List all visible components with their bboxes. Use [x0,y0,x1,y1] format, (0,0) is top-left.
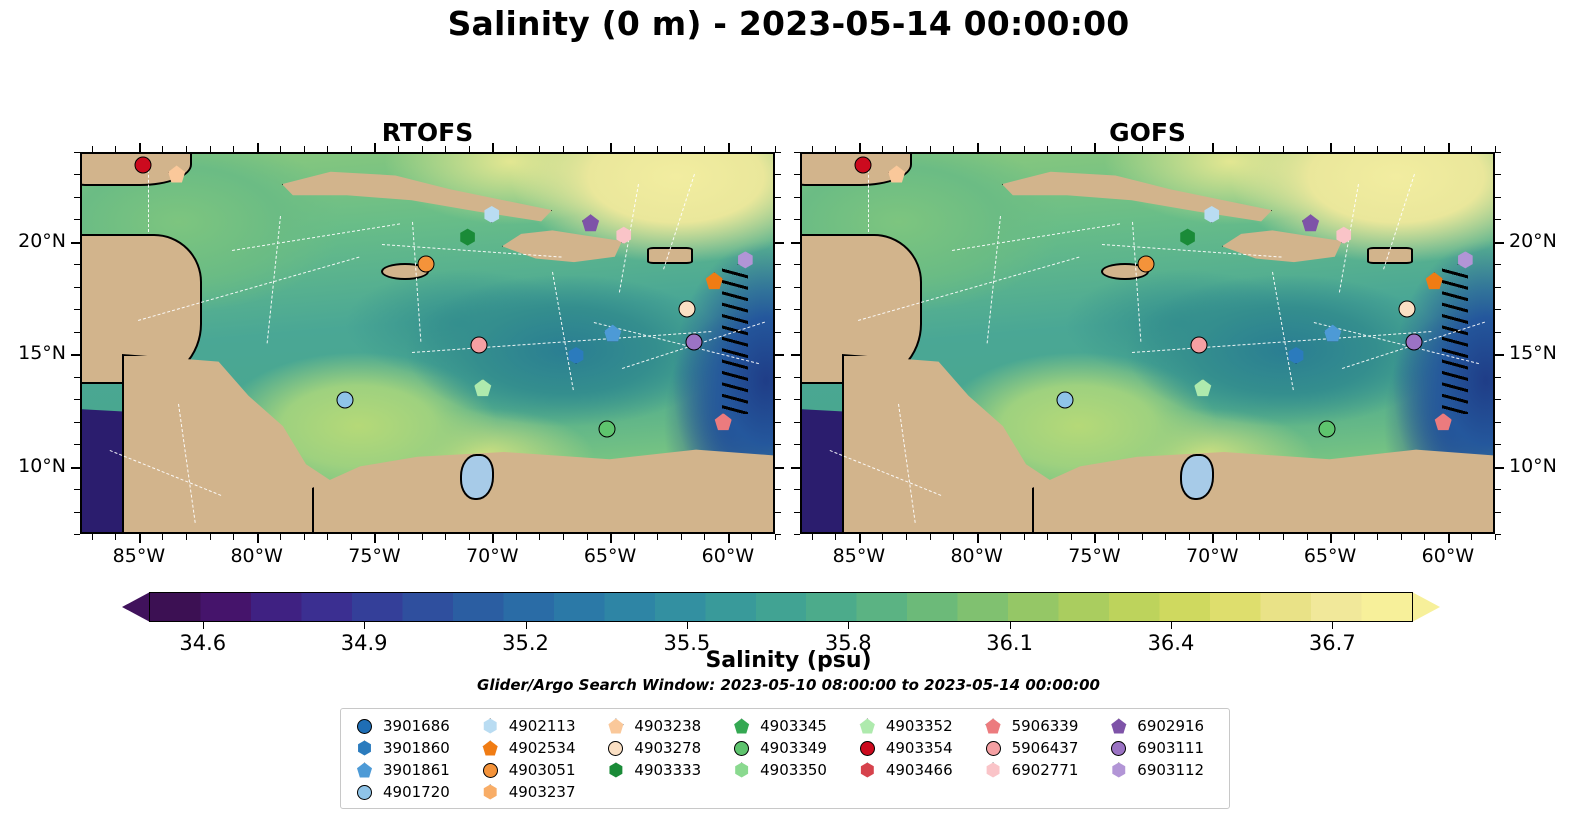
panel-title-rtofs: RTOFS [80,118,775,147]
x-axis-tick [280,534,281,540]
x-axis-tick [1142,146,1143,152]
legend-marker-icon [986,741,1001,756]
x-axis-tick [930,534,931,540]
colorbar-extend-high-arrow [1412,592,1440,622]
y-axis-tick [794,174,800,175]
x-axis-tick [1094,534,1096,543]
colorbar-tick [1171,622,1172,629]
x-axis-tick [859,534,861,543]
legend-item[interactable]: 6902771 [974,760,1100,780]
x-axis-tick [1401,146,1402,152]
map-marker[interactable] [168,166,185,183]
legend-item-label: 4903466 [886,761,953,779]
x-axis-tick [422,534,423,540]
legend-item[interactable]: 4903345 [722,716,848,736]
colorbar-tick [687,622,688,629]
y-axis-tick [74,309,80,310]
legend-item[interactable]: 4903354 [848,738,974,758]
map-marker[interactable] [1426,272,1443,289]
y-axis-tick [791,467,800,469]
x-axis-tick [977,534,979,543]
map-marker[interactable] [471,336,488,353]
y-axis-tick [74,377,80,378]
x-axis-tick [186,146,187,152]
y-axis-label: 10°N [0,455,66,477]
x-axis-tick [1071,534,1072,540]
map-marker[interactable] [1319,421,1336,438]
legend-item-label: 5906437 [1012,739,1079,757]
y-axis-tick [74,399,80,400]
x-axis-tick [906,534,907,540]
y-axis-tick [74,534,80,535]
x-axis-label: 85°W [814,545,904,567]
legend-item[interactable]: 4903237 [471,782,597,802]
map-marker[interactable] [1194,379,1211,396]
y-axis-tick [794,287,800,288]
x-axis-tick [1424,146,1425,152]
x-axis-tick [327,146,328,152]
x-axis-tick [351,146,352,152]
y-axis-tick [1495,512,1501,513]
x-axis-tick [1142,534,1143,540]
map-panel-gofs[interactable] [800,152,1495,534]
colorbar-tick [1332,622,1333,629]
x-axis-tick [280,146,281,152]
y-axis-tick [775,512,781,513]
map-marker[interactable] [1288,347,1305,364]
x-axis-tick [1307,534,1308,540]
y-axis-tick [791,354,800,356]
y-axis-tick [1495,219,1501,220]
legend-marker-icon [986,719,1001,734]
legend-item-label: 4903278 [634,739,701,757]
x-axis-tick [1212,143,1214,152]
y-axis-tick [74,197,80,198]
x-axis-label: 80°W [212,545,302,567]
x-axis-tick [1118,534,1119,540]
map-marker[interactable] [1056,391,1073,408]
x-axis-tick [469,534,470,540]
y-axis-tick [1495,264,1501,265]
legend-item[interactable]: 5906437 [974,738,1100,758]
map-marker[interactable] [615,227,632,244]
colorbar-extend-low-arrow [122,592,150,622]
y-axis-tick [1495,354,1504,356]
x-axis-label: 60°W [1403,545,1493,567]
y-axis-tick [775,219,781,220]
y-axis-label: 20°N [1509,230,1557,252]
x-axis-tick [1212,534,1214,543]
x-axis-tick [422,146,423,152]
map-marker[interactable] [1457,251,1474,268]
colorbar[interactable]: 34.634.935.235.535.836.136.436.7 [122,592,1440,622]
x-axis-tick [492,143,494,152]
map-marker[interactable] [1191,336,1208,353]
x-axis-tick [233,146,234,152]
colorbar-tick [526,622,527,629]
y-axis-tick [794,444,800,445]
x-axis-tick [812,534,813,540]
x-axis-tick [882,146,883,152]
x-axis-tick [1471,146,1472,152]
x-axis-tick [906,146,907,152]
x-axis-tick [374,143,376,152]
x-axis-tick [469,146,470,152]
y-axis-tick [1495,197,1501,198]
map-marker[interactable] [1203,206,1220,223]
y-axis-tick [775,444,781,445]
x-axis-label: 60°W [683,545,773,567]
map-marker[interactable] [686,334,703,351]
map-marker[interactable] [1179,229,1196,246]
x-axis-tick [634,534,635,540]
x-axis-tick [1189,146,1190,152]
x-axis-tick [882,534,883,540]
legend-item-label: 4903349 [760,739,827,757]
panel-title-gofs: GOFS [800,118,1495,147]
legend-item-label: 4902113 [509,717,576,735]
legend-marker-icon [608,763,623,778]
x-axis-label: 70°W [447,545,537,567]
y-axis-tick [794,219,800,220]
legend-item-label: 3901861 [383,761,450,779]
y-axis-tick [775,309,781,310]
y-axis-tick [775,197,781,198]
x-axis-label: 65°W [1285,545,1375,567]
legend-item[interactable]: 4903350 [722,760,848,780]
x-axis-tick [1330,143,1332,152]
map-marker[interactable] [854,157,871,174]
x-axis-tick [587,146,588,152]
map-marker[interactable] [134,157,151,174]
legend-item-label: 6903111 [1137,739,1204,757]
legend-marker-icon [1111,719,1126,734]
y-axis-tick [74,174,80,175]
y-axis-tick [794,489,800,490]
x-axis-tick [257,534,259,543]
y-axis-tick [1495,309,1501,310]
x-axis-tick [1283,146,1284,152]
map-marker[interactable] [474,379,491,396]
legend-item-label: 4903350 [760,761,827,779]
y-axis-tick [775,467,784,469]
land-lesser-antilles [722,264,748,414]
legend-item-label: 3901686 [383,717,450,735]
map-marker[interactable] [1324,325,1341,342]
map-marker[interactable] [706,272,723,289]
colorbar-tick [848,622,849,629]
x-axis-label: 65°W [565,545,655,567]
x-axis-tick [704,534,705,540]
legend-item-label: 6902771 [1012,761,1079,779]
legend-item-label: 4903238 [634,717,701,735]
legend-marker-icon [357,741,372,756]
y-axis-tick [775,287,781,288]
x-axis-tick [186,534,187,540]
legend-marker-icon [1111,741,1126,756]
y-axis-tick [1495,467,1504,469]
x-axis-tick [751,146,752,152]
y-axis-tick [71,467,80,469]
legend-marker-icon [734,741,749,756]
x-axis-tick [1165,146,1166,152]
y-axis-tick [794,377,800,378]
y-axis-tick [775,354,784,356]
y-axis-tick [775,534,781,535]
y-axis-tick [71,354,80,356]
x-axis-tick [681,534,682,540]
legend-item[interactable]: 4903051 [471,760,597,780]
x-axis-tick [1165,534,1166,540]
x-axis-tick [657,534,658,540]
legend-item-label: 5906339 [1012,717,1079,735]
x-axis-tick [751,534,752,540]
legend-item[interactable]: 3901860 [345,738,471,758]
legend-item[interactable]: 4903278 [596,738,722,758]
x-axis-tick [115,146,116,152]
legend-item[interactable]: 6903111 [1099,738,1225,758]
x-axis-tick [610,534,612,543]
legend-marker-icon [357,763,372,778]
colorbar-tick [1010,622,1011,629]
x-axis-tick [681,146,682,152]
y-axis-tick [1495,332,1501,333]
legend-item[interactable]: 4903466 [848,760,974,780]
x-axis-tick [835,146,836,152]
x-axis-tick [1259,146,1260,152]
legend-item-label: 4902534 [509,739,576,757]
colorbar-gradient [149,592,1413,622]
y-axis-tick [1495,287,1501,288]
y-axis-tick [794,512,800,513]
y-axis-tick [775,242,784,244]
y-axis-tick [1495,399,1501,400]
y-axis-tick [1495,152,1501,153]
x-axis-tick [1259,534,1260,540]
x-axis-tick [516,146,517,152]
map-marker[interactable] [1406,334,1423,351]
x-axis-tick [210,146,211,152]
y-axis-tick [775,489,781,490]
x-axis-tick [304,146,305,152]
legend-item[interactable]: 3901861 [345,760,471,780]
map-marker[interactable] [1399,300,1416,317]
map-marker[interactable] [679,300,696,317]
map-marker[interactable] [599,421,616,438]
colorbar-tick [203,622,204,629]
x-axis-tick [1047,534,1048,540]
y-axis-tick [71,242,80,244]
y-axis-tick [74,219,80,220]
y-axis-tick [794,309,800,310]
x-axis-tick [445,146,446,152]
legend-item[interactable]: 4903352 [848,716,974,736]
legend-marker-icon [608,741,623,756]
x-axis-tick [327,534,328,540]
y-axis-tick [74,332,80,333]
x-axis-tick [139,143,141,152]
legend-marker-icon [357,719,372,734]
x-axis-tick [162,534,163,540]
map-marker[interactable] [582,214,599,231]
map-marker[interactable] [1138,255,1155,272]
search-window-text: Glider/Argo Search Window: 2023-05-10 08… [0,676,1577,694]
x-axis-tick [1236,534,1237,540]
y-axis-tick [775,377,781,378]
y-axis-tick [794,197,800,198]
x-axis-tick [445,534,446,540]
legend-item-label: 4903345 [760,717,827,735]
water-lake-maracaibo [460,454,494,500]
legend-item[interactable]: 4902113 [471,716,597,736]
legend-marker-icon [734,719,749,734]
legend-item[interactable]: 4901720 [345,782,471,802]
map-marker[interactable] [418,255,435,272]
x-axis-tick [1024,146,1025,152]
y-axis-label: 15°N [0,342,66,364]
legend-grid: 3901686390186039018614901720490211349025… [345,716,1225,802]
legend-item[interactable]: 4903349 [722,738,848,758]
y-axis-tick [775,174,781,175]
x-axis-label: 70°W [1167,545,1257,567]
legend-item[interactable]: 4902534 [471,738,597,758]
legend-item[interactable]: 4903333 [596,760,722,780]
x-axis-tick [139,534,141,543]
legend-item[interactable]: 3901686 [345,716,471,736]
x-axis-tick [1283,534,1284,540]
x-axis-tick [704,146,705,152]
legend-marker-icon [483,741,498,756]
legend-item[interactable]: 4903238 [596,716,722,736]
x-axis-label: 75°W [329,545,419,567]
y-axis-tick [775,422,781,423]
legend-marker-icon [483,763,498,778]
legend-item-label: 4903237 [509,783,576,801]
y-axis-tick [794,264,800,265]
x-axis-tick [835,534,836,540]
legend-item[interactable]: 6903112 [1099,760,1225,780]
x-axis-label: 85°W [94,545,184,567]
x-axis-tick [977,143,979,152]
y-axis-tick [74,152,80,153]
legend-item-label: 6903112 [1137,761,1204,779]
x-axis-tick [210,534,211,540]
y-axis-tick [775,332,781,333]
legend-marker-icon [860,763,875,778]
legend-item-label: 4903354 [886,739,953,757]
x-axis-tick [1448,534,1450,543]
x-axis-tick [1354,534,1355,540]
x-axis-label: 80°W [932,545,1022,567]
water-lake-maracaibo [1180,454,1214,500]
x-axis-tick [1330,534,1332,543]
map-marker[interactable] [715,413,732,430]
legend-item-label: 4901720 [383,783,450,801]
y-axis-tick [775,152,781,153]
colorbar-title: Salinity (psu) [0,648,1577,673]
x-axis-tick [587,534,588,540]
legend-marker-icon [1111,763,1126,778]
x-axis-tick [1448,143,1450,152]
y-axis-tick [1495,174,1501,175]
legend-item[interactable]: 5906339 [974,716,1100,736]
x-axis-tick [233,534,234,540]
x-axis-tick [728,143,730,152]
legend-marker-icon [986,763,1001,778]
map-marker[interactable] [1335,227,1352,244]
map-marker[interactable] [568,347,585,364]
map-panel-rtofs[interactable] [80,152,775,534]
legend-marker-icon [608,719,623,734]
y-axis-tick [791,242,800,244]
colorbar-tick [364,622,365,629]
legend-marker-icon [483,719,498,734]
map-marker[interactable] [483,206,500,223]
figure-title: Salinity (0 m) - 2023-05-14 00:00:00 [0,4,1577,43]
y-axis-label: 20°N [0,230,66,252]
x-axis-tick [634,146,635,152]
y-axis-tick [74,264,80,265]
x-axis-tick [374,534,376,543]
map-marker[interactable] [1435,413,1452,430]
x-axis-tick [92,534,93,540]
y-axis-tick [1495,242,1504,244]
map-marker[interactable] [1302,214,1319,231]
x-axis-tick [1071,146,1072,152]
x-axis-tick [953,534,954,540]
y-axis-tick [1495,534,1501,535]
x-axis-tick [1377,534,1378,540]
y-axis-tick [1495,377,1501,378]
legend-item-label: 6902916 [1137,717,1204,735]
y-axis-tick [74,287,80,288]
map-marker[interactable] [336,391,353,408]
x-axis-tick [1424,534,1425,540]
x-axis-tick [1047,146,1048,152]
legend-marker-icon [483,785,498,800]
x-axis-tick [1236,146,1237,152]
y-axis-tick [74,444,80,445]
x-axis-tick [1000,534,1001,540]
legend-item[interactable]: 6902916 [1099,716,1225,736]
y-axis-tick [74,512,80,513]
map-marker[interactable] [888,166,905,183]
x-axis-tick [492,534,494,543]
legend-item-label: 4903333 [634,761,701,779]
legend-item-label: 4903352 [886,717,953,735]
x-axis-tick [1094,143,1096,152]
x-axis-tick [953,146,954,152]
platform-legend[interactable]: 3901686390186039018614901720490211349025… [340,708,1230,809]
legend-marker-icon [860,719,875,734]
map-marker[interactable] [459,229,476,246]
x-axis-tick [539,534,540,540]
map-marker[interactable] [604,325,621,342]
y-axis-tick [794,399,800,400]
y-axis-tick [794,422,800,423]
y-axis-label: 10°N [1509,455,1557,477]
y-axis-tick [1495,444,1501,445]
y-axis-tick [74,489,80,490]
x-axis-tick [1118,146,1119,152]
legend-item-label: 4903051 [509,761,576,779]
y-axis-tick [1495,422,1501,423]
x-axis-tick [304,534,305,540]
legend-item-label: 3901860 [383,739,450,757]
x-axis-tick [516,534,517,540]
x-axis-tick [728,534,730,543]
map-marker[interactable] [737,251,754,268]
